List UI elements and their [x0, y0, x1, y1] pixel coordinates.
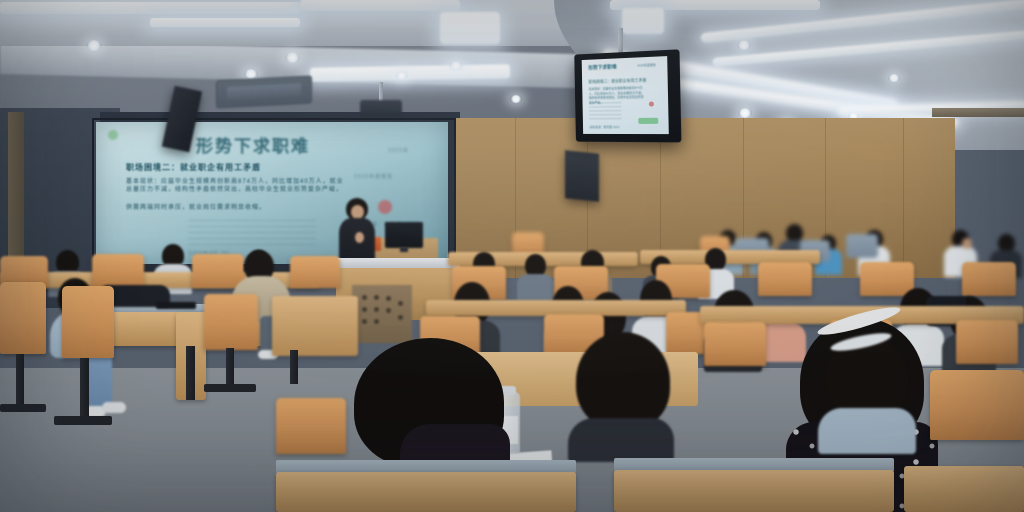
ceiling-strip-light-6: [440, 12, 500, 44]
seat-leg-left-1: [16, 354, 24, 408]
tv-screen: 形势下求职难 2020年度报告 职场困境二：就业职企有用工矛盾 基本现状：应届毕…: [582, 56, 669, 134]
tablet-on-desk: [156, 302, 196, 309]
ceiling-strip-light-7: [622, 8, 664, 34]
seat-right-1: [704, 322, 766, 366]
downlight-12: [888, 74, 900, 82]
slide-red-stamp-icon: [378, 200, 392, 214]
seat-foot-left-2: [54, 416, 112, 425]
student-hair: [576, 332, 670, 430]
slide-corner-date: 2020年: [388, 147, 409, 154]
lecture-hall-photo: 2020年 形势下求职难 职场困境二：就业职企有用工矛盾 基本现状：应届毕业生规…: [0, 0, 1024, 512]
downlight-2: [285, 52, 300, 63]
tv-green-badge: [638, 118, 658, 124]
seat-foot-left-1: [0, 404, 46, 412]
equipment-cabinet: [352, 285, 412, 343]
downlight-5: [395, 71, 408, 80]
ceiling-projector: [360, 100, 402, 117]
slide-bullet-1: 职场困境二：就业职企有用工矛盾: [126, 162, 376, 173]
tv-red-stamp-icon: [649, 101, 654, 106]
podium-computer-monitor: [385, 222, 423, 248]
seat-foreground-left-2: [62, 286, 114, 358]
tv-footer: 资料来源：教育部 2020: [589, 125, 619, 129]
desk-back-foreground-1: [276, 472, 576, 512]
student-top: [568, 418, 674, 462]
ceiling-strip-light-2: [300, 0, 460, 11]
tv-corner-text: 2020年度报告: [637, 63, 656, 68]
seat-leg-left-2: [80, 358, 89, 420]
slide-logo-icon: [108, 130, 118, 140]
student-shoe-2: [102, 402, 126, 413]
wall-tv-monitor: 形势下求职难 2020年度报告 职场困境二：就业职企有用工矛盾 基本现状：应届毕…: [574, 49, 681, 142]
slide-title: 形势下求职难: [196, 132, 310, 157]
desk-leg-left-mid: [290, 350, 298, 384]
seat-right-3: [956, 320, 1018, 364]
monitor-stand: [400, 247, 408, 252]
student-foreground-c: [808, 330, 928, 450]
tv-slide-title: 形势下求职难: [588, 63, 617, 71]
tv-bullet-1: 职场困境二：就业职企有用工矛盾: [589, 77, 657, 85]
slide-bullet-2: 基本现状：应届毕业生规模再创新高874万人，同比增加40万人，就业总量压力不减，…: [126, 178, 346, 194]
downlight-7: [738, 108, 752, 118]
projector-mount-pole: [379, 82, 383, 102]
desk-back-foreground-3: [904, 466, 1024, 512]
lecturer-hands: [355, 232, 364, 243]
student-foreground-d: [556, 330, 686, 460]
downlight-6: [737, 40, 751, 50]
ac-grille: [227, 83, 301, 100]
lecturer-at-podium: [334, 198, 378, 262]
ceiling-strip-light-3: [150, 18, 300, 27]
student-top: [818, 408, 916, 454]
desk-back-foreground-2: [614, 470, 894, 512]
downlight-4: [449, 61, 463, 71]
lecturer-face: [351, 205, 364, 219]
ceiling-strip-light-1: [0, 2, 300, 14]
seat-left-mid: [204, 294, 258, 350]
wall-mounted-speaker: [565, 150, 599, 202]
ceiling-air-conditioner: [216, 75, 312, 108]
downlight-1: [86, 40, 102, 51]
seat-foreground-corner: [276, 398, 346, 454]
seat-foreground-left-1: [0, 282, 46, 354]
desk-leg-left: [186, 346, 195, 400]
seat-foreground-right: [930, 370, 1024, 440]
slide-bullet-3: 供需两端同时承压，就业岗位需求明显收缩。: [126, 204, 341, 212]
downlight-13: [510, 95, 522, 103]
slide-right-note: 2020年度报告: [354, 174, 424, 181]
seat-foot-left-mid: [204, 384, 256, 392]
tv-table: [589, 102, 622, 120]
